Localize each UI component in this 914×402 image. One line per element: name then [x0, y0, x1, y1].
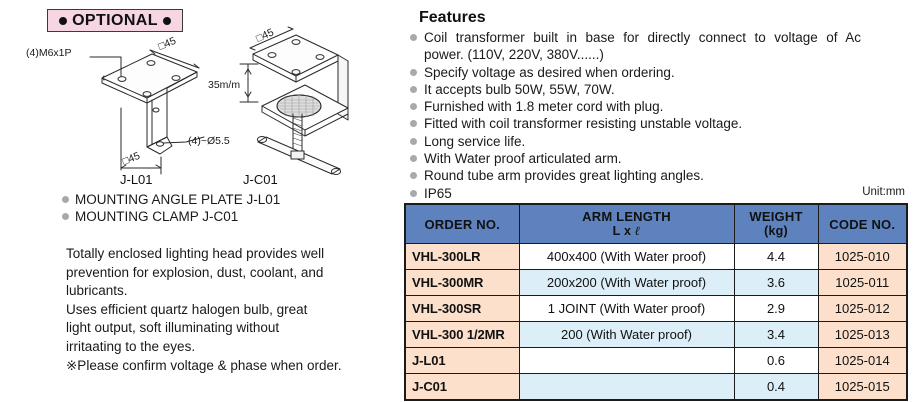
- feature-item: Furnished with 1.8 meter cord with plug.: [410, 98, 910, 115]
- script-ell-symbol: ℓ: [635, 224, 641, 238]
- cell-code-no: 1025-015: [818, 374, 907, 401]
- list-item: MOUNTING CLAMP J-C01: [62, 208, 402, 225]
- arm-length-sub-prefix: L x: [613, 224, 635, 238]
- product-description: Totally enclosed lighting head provides …: [66, 245, 396, 375]
- table-row: J-C01 0.4 1025-015: [405, 374, 907, 401]
- features-list: Coil transformer built in base for direc…: [410, 29, 910, 202]
- mounting-options-list: MOUNTING ANGLE PLATE J-L01 MOUNTING CLAM…: [62, 191, 402, 225]
- feature-text: Round tube arm provides great lighting a…: [424, 167, 704, 184]
- cell-arm-length: 400x400 (With Water proof): [519, 244, 734, 270]
- bullet-icon: [410, 172, 417, 179]
- bullet-icon: [62, 196, 69, 203]
- feature-item: Specify voltage as desired when ordering…: [410, 64, 910, 81]
- cell-code-no: 1025-010: [818, 244, 907, 270]
- bullet-icon: [410, 103, 417, 110]
- feature-item: With Water proof articulated arm.: [410, 150, 910, 167]
- feature-text: Coil transformer built in base for direc…: [424, 29, 861, 64]
- table-row: VHL-300LR 400x400 (With Water proof) 4.4…: [405, 244, 907, 270]
- list-item-label: MOUNTING CLAMP J-C01: [75, 208, 238, 225]
- cell-order-no: VHL-300LR: [405, 244, 519, 270]
- bullet-icon: [410, 138, 417, 145]
- cell-order-no: VHL-300MR: [405, 270, 519, 296]
- cell-code-no: 1025-012: [818, 296, 907, 322]
- cell-code-no: 1025-011: [818, 270, 907, 296]
- cell-code-no: 1025-014: [818, 348, 907, 374]
- features-title: Features: [419, 8, 910, 27]
- jc01-caption: J-C01: [243, 172, 278, 187]
- cell-code-no: 1025-013: [818, 322, 907, 348]
- description-line: Uses efficient quartz halogen bulb, grea…: [66, 301, 396, 320]
- table-body: VHL-300LR 400x400 (With Water proof) 4.4…: [405, 244, 907, 401]
- cell-arm-length: [519, 374, 734, 401]
- table-row: VHL-300 1/2MR 200 (With Water proof) 3.4…: [405, 322, 907, 348]
- cell-order-no: VHL-300SR: [405, 296, 519, 322]
- bullet-icon: [410, 34, 417, 41]
- drawings-svg: (4)M6x1P □45 □45 (4)~Ø5.5 □45 35m/m: [0, 24, 400, 194]
- feature-text: With Water proof articulated arm.: [424, 150, 622, 167]
- jc01-height-dim-label: 35m/m: [208, 79, 240, 91]
- cell-order-no: J-C01: [405, 374, 519, 401]
- column-header-weight-main: WEIGHT: [749, 209, 802, 224]
- description-line: prevention for explosion, dust, coolant,…: [66, 264, 396, 283]
- jl01-drawing: [90, 50, 204, 174]
- bullet-icon: [410, 120, 417, 127]
- cell-arm-length: 200 (With Water proof): [519, 322, 734, 348]
- unit-label: Unit:mm: [862, 186, 905, 198]
- cell-weight: 0.6: [734, 348, 818, 374]
- column-header-code-no: CODE NO.: [818, 204, 907, 244]
- voltage-phase-note: ※Please confirm voltage & phase when ord…: [66, 357, 396, 376]
- cell-arm-length: 200x200 (With Water proof): [519, 270, 734, 296]
- jl01-top-dim-label: □45: [157, 35, 178, 53]
- column-header-arm-length: ARM LENGTH L x ℓ: [519, 204, 734, 244]
- description-line: lubricants.: [66, 282, 396, 301]
- list-item-label: MOUNTING ANGLE PLATE J-L01: [75, 191, 280, 208]
- feature-item: Fitted with coil transformer resisting u…: [410, 115, 910, 132]
- bullet-icon: [410, 155, 417, 162]
- cell-order-no: J-L01: [405, 348, 519, 374]
- cell-weight: 3.4: [734, 322, 818, 348]
- jl01-caption: J-L01: [120, 172, 153, 187]
- cell-arm-length: [519, 348, 734, 374]
- feature-text-line2: power. (110V, 220V, 380V......): [424, 46, 861, 63]
- table-row: VHL-300MR 200x200 (With Water proof) 3.6…: [405, 270, 907, 296]
- cell-order-no: VHL-300 1/2MR: [405, 322, 519, 348]
- table-row: J-L01 0.6 1025-014: [405, 348, 907, 374]
- specification-table: ORDER NO. ARM LENGTH L x ℓ WEIGHT (kg) C…: [404, 203, 908, 401]
- feature-text: It accepts bulb 50W, 55W, 70W.: [424, 81, 615, 98]
- bullet-icon: [410, 69, 417, 76]
- feature-item: Coil transformer built in base for direc…: [410, 29, 910, 64]
- description-line: Totally enclosed lighting head provides …: [66, 245, 396, 264]
- feature-item: It accepts bulb 50W, 55W, 70W.: [410, 81, 910, 98]
- jl01-thread-label: (4)M6x1P: [26, 47, 72, 59]
- column-header-weight-unit: (kg): [735, 224, 818, 239]
- column-header-weight: WEIGHT (kg): [734, 204, 818, 244]
- feature-item: Long service life.: [410, 133, 910, 150]
- column-header-arm-length-main: ARM LENGTH: [582, 209, 671, 224]
- cell-weight: 3.6: [734, 270, 818, 296]
- cell-weight: 4.4: [734, 244, 818, 270]
- cell-weight: 0.4: [734, 374, 818, 401]
- description-line: light output, soft illuminating without: [66, 319, 396, 338]
- jc01-top-dim-label: □45: [254, 26, 275, 44]
- cell-arm-length: 1 JOINT (With Water proof): [519, 296, 734, 322]
- feature-text: Furnished with 1.8 meter cord with plug.: [424, 98, 663, 115]
- cell-weight: 2.9: [734, 296, 818, 322]
- list-item: MOUNTING ANGLE PLATE J-L01: [62, 191, 402, 208]
- column-header-order-no: ORDER NO.: [405, 204, 519, 244]
- feature-text: Fitted with coil transformer resisting u…: [424, 115, 742, 132]
- jl01-side-dim-label: □45: [121, 150, 142, 168]
- table-header-row: ORDER NO. ARM LENGTH L x ℓ WEIGHT (kg) C…: [405, 204, 907, 244]
- jc01-drawing: [240, 27, 348, 175]
- bullet-icon: [410, 190, 417, 197]
- feature-item: IP65: [410, 185, 910, 202]
- product-drawings: (4)M6x1P □45 □45 (4)~Ø5.5 □45 35m/m: [0, 24, 400, 194]
- bullet-icon: [62, 213, 69, 220]
- feature-text: Specify voltage as desired when ordering…: [424, 64, 675, 81]
- feature-text: IP65: [424, 185, 452, 202]
- feature-text: Long service life.: [424, 133, 525, 150]
- feature-text-line1: Coil transformer built in base for direc…: [424, 29, 861, 46]
- features-section: Features Coil transformer built in base …: [410, 8, 910, 202]
- feature-item: Round tube arm provides great lighting a…: [410, 167, 910, 184]
- table-row: VHL-300SR 1 JOINT (With Water proof) 2.9…: [405, 296, 907, 322]
- column-header-arm-length-sub: L x ℓ: [520, 224, 734, 239]
- jl01-hole-dim-label: (4)~Ø5.5: [188, 135, 230, 147]
- description-line: irritaating to the eyes.: [66, 338, 396, 357]
- bullet-icon: [410, 86, 417, 93]
